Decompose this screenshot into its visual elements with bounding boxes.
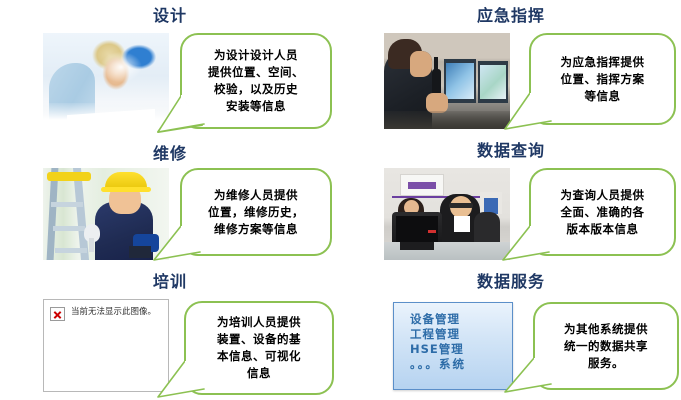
cell-title-design: 设计 xyxy=(0,6,340,26)
system-line-engineering: 工程管理 xyxy=(410,327,512,342)
bubble-line: 装置、设备的基 xyxy=(184,331,334,348)
bubble-line: 等信息 xyxy=(529,88,676,105)
bubble-data-query: 为查询人员提供 全面、准确的各 版本版本信息 xyxy=(529,168,676,256)
cell-emergency-command: 应急指挥 为应急指挥提供 位置、指挥方案 等信息 xyxy=(341,0,681,135)
bubble-line: 维修方案等信息 xyxy=(180,221,332,238)
bubble-text-data-service: 为其他系统提供 统一的数据共享 服务。 xyxy=(533,321,679,372)
cell-maintenance: 维修 为维修人员提供 位置， xyxy=(0,136,340,266)
broken-image-placeholder: 当前无法显示此图像。 xyxy=(43,299,169,392)
diagram-canvas: 设计 为设计设计人员 提供位置、空间、 校验，以及历史 安装等信息 应急指挥 xyxy=(0,0,681,400)
bubble-text-training: 为培训人员提供 装置、设备的基 本信息、可视化 信息 xyxy=(184,314,334,382)
bubble-text-data-query: 为查询人员提供 全面、准确的各 版本版本信息 xyxy=(529,187,676,238)
bubble-line: 为培训人员提供 xyxy=(184,314,334,331)
bubble-line: 校验，以及历史 xyxy=(180,81,332,98)
cell-title-data-query: 数据查询 xyxy=(341,141,681,161)
cell-data-query: 数据查询 xyxy=(341,136,681,266)
bubble-line: 提供位置、空间、 xyxy=(180,64,332,81)
bubble-data-service: 为其他系统提供 统一的数据共享 服务。 xyxy=(533,302,679,390)
system-line-equipment: 设备管理 xyxy=(410,312,512,327)
system-line-others: 。。。系统 xyxy=(410,357,512,372)
bubble-line: 为维修人员提供 xyxy=(180,187,332,204)
bubble-training: 为培训人员提供 装置、设备的基 本信息、可视化 信息 xyxy=(184,301,334,395)
photo-office-staff-at-computers xyxy=(384,168,510,260)
bubble-maintenance: 为维修人员提供 位置，维修历史， 维修方案等信息 xyxy=(180,168,332,256)
system-list-box: 设备管理 工程管理 HSE管理 。。。系统 xyxy=(393,302,513,390)
bubble-line: 为其他系统提供 xyxy=(533,321,679,338)
photo-technician-with-ladder-and-drill xyxy=(43,168,169,260)
bubble-line: 统一的数据共享 xyxy=(533,338,679,355)
bubble-text-maintenance: 为维修人员提供 位置，维修历史， 维修方案等信息 xyxy=(180,187,332,238)
photo-operator-with-radio-at-control-desk xyxy=(384,33,510,129)
cell-data-service: 数据服务 设备管理 工程管理 HSE管理 。。。系统 为其他系统提供 统一的数据… xyxy=(341,267,681,400)
broken-image-message: 当前无法显示此图像。 xyxy=(71,307,156,318)
bubble-line: 为设计设计人员 xyxy=(180,47,332,64)
cell-title-training: 培训 xyxy=(0,272,340,292)
photo-designer-reviewing-blueprints xyxy=(43,33,169,129)
cell-title-data-service: 数据服务 xyxy=(341,272,681,292)
bubble-line: 位置、指挥方案 xyxy=(529,71,676,88)
bubble-line: 本信息、可视化 xyxy=(184,348,334,365)
system-line-hse: HSE管理 xyxy=(410,342,512,357)
cell-training: 培训 当前无法显示此图像。 为培训人员提供 装置、设备的基 本信息、可视化 信息 xyxy=(0,267,340,400)
bubble-text-design: 为设计设计人员 提供位置、空间、 校验，以及历史 安装等信息 xyxy=(180,47,332,115)
bubble-line: 为应急指挥提供 xyxy=(529,54,676,71)
bubble-line: 服务。 xyxy=(533,355,679,372)
bubble-line: 信息 xyxy=(184,365,334,382)
bubble-line: 全面、准确的各 xyxy=(529,204,676,221)
cell-design: 设计 为设计设计人员 提供位置、空间、 校验，以及历史 安装等信息 xyxy=(0,0,340,135)
bubble-text-emergency-command: 为应急指挥提供 位置、指挥方案 等信息 xyxy=(529,54,676,105)
bubble-line: 为查询人员提供 xyxy=(529,187,676,204)
bubble-line: 安装等信息 xyxy=(180,98,332,115)
cell-title-emergency-command: 应急指挥 xyxy=(341,6,681,26)
bubble-line: 位置，维修历史， xyxy=(180,204,332,221)
broken-image-x-icon xyxy=(50,307,65,321)
bubble-emergency-command: 为应急指挥提供 位置、指挥方案 等信息 xyxy=(529,33,676,125)
bubble-design: 为设计设计人员 提供位置、空间、 校验，以及历史 安装等信息 xyxy=(180,33,332,129)
bubble-line: 版本版本信息 xyxy=(529,221,676,238)
cell-title-maintenance: 维修 xyxy=(0,144,340,164)
